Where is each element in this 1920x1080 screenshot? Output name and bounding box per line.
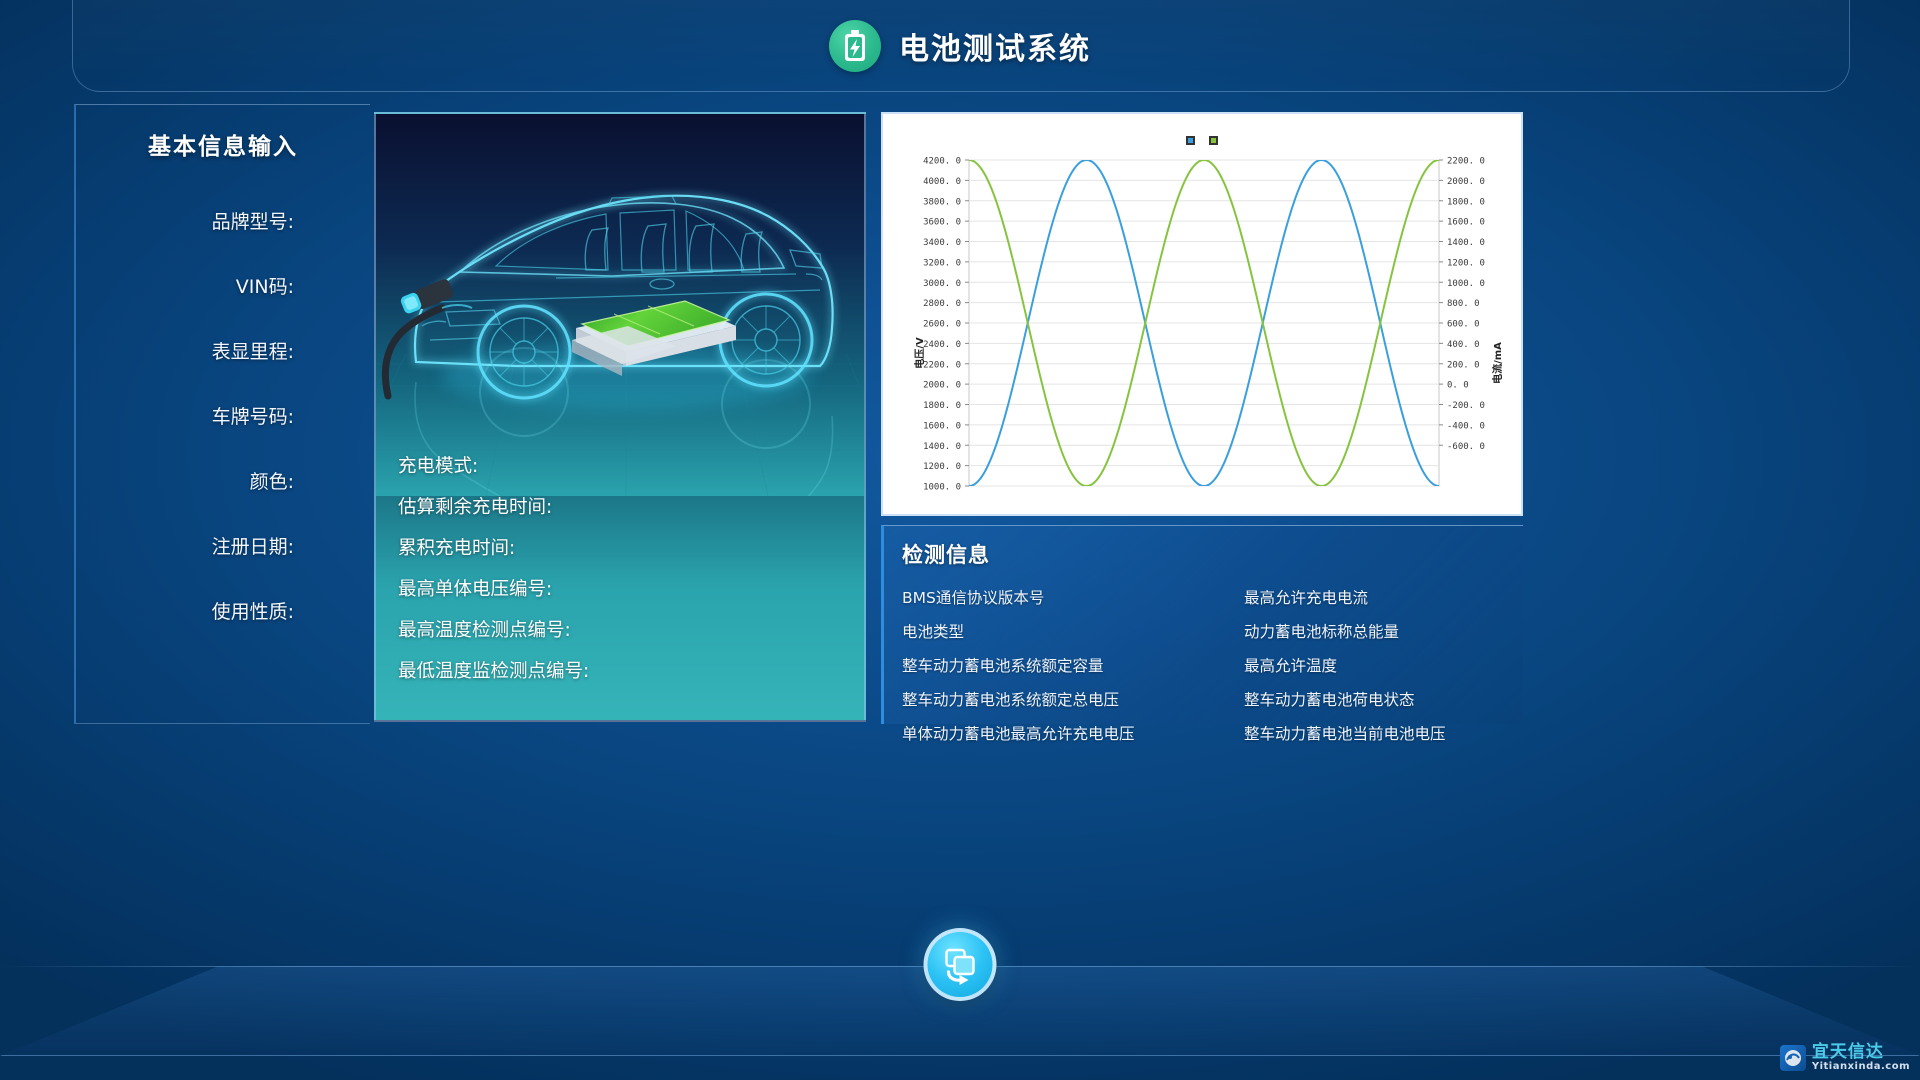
- svg-text:-200. 0: -200. 0: [1447, 401, 1485, 411]
- voltage-current-chart-panel: 4200. 04000. 03800. 03600. 03400. 03200.…: [881, 112, 1523, 516]
- svg-text:3800. 0: 3800. 0: [923, 197, 961, 207]
- svg-text:0. 0: 0. 0: [1447, 381, 1469, 391]
- watermark-chinese: 宜天信达: [1812, 1044, 1910, 1062]
- sidebar-field-vin[interactable]: VIN码:: [76, 272, 294, 337]
- svg-text:4000. 0: 4000. 0: [923, 177, 961, 187]
- svg-text:2000. 0: 2000. 0: [923, 381, 961, 391]
- svg-text:1400. 0: 1400. 0: [923, 442, 961, 452]
- svg-text:电流/mA: 电流/mA: [1491, 342, 1504, 384]
- basic-info-sidebar: 基本信息输入 品牌型号: VIN码: 表显里程: 车牌号码: 颜色: 注册日期:…: [74, 104, 370, 724]
- svg-text:1600. 0: 1600. 0: [923, 421, 961, 431]
- field-label: VIN码:: [236, 272, 294, 299]
- detection-info-title: 检测信息: [902, 539, 1523, 569]
- field-label: 品牌型号:: [212, 207, 294, 234]
- field-label: 充电模式:: [398, 452, 478, 478]
- svg-text:400. 0: 400. 0: [1447, 340, 1480, 350]
- svg-text:1600. 0: 1600. 0: [1447, 218, 1485, 228]
- info-item-rated-total-voltage[interactable]: 整车动力蓄电池系统额定总电压: [902, 688, 1244, 710]
- charging-field-list: 充电模式: 估算剩余充电时间: 累积充电时间: 最高单体电压编号: 最高温度检测…: [398, 444, 854, 690]
- info-item-current-battery-voltage[interactable]: 整车动力蓄电池当前电池电压: [1244, 722, 1523, 744]
- info-item-battery-type[interactable]: 电池类型: [902, 620, 1244, 642]
- watermark: 宜天信达 Yitianxinda.com: [1780, 1044, 1910, 1072]
- info-item-state-of-charge[interactable]: 整车动力蓄电池荷电状态: [1244, 688, 1523, 710]
- info-item-nominal-total-energy[interactable]: 动力蓄电池标称总能量: [1244, 620, 1523, 642]
- svg-text:1800. 0: 1800. 0: [923, 401, 961, 411]
- svg-text:1800. 0: 1800. 0: [1447, 197, 1485, 207]
- svg-text:4200. 0: 4200. 0: [923, 157, 961, 167]
- field-label: 表显里程:: [212, 337, 294, 364]
- svg-text:1000. 0: 1000. 0: [1447, 279, 1485, 289]
- field-label: 注册日期:: [212, 532, 294, 559]
- watermark-english: Yitianxinda.com: [1812, 1062, 1910, 1073]
- watermark-text: 宜天信达 Yitianxinda.com: [1812, 1044, 1910, 1072]
- refresh-copy-icon: [940, 945, 980, 985]
- watermark-logo-icon: [1780, 1045, 1806, 1071]
- vehicle-charging-panel: 充电模式: 估算剩余充电时间: 累积充电时间: 最高单体电压编号: 最高温度检测…: [374, 112, 866, 722]
- center-field-remaining-charge-time[interactable]: 估算剩余充电时间:: [398, 485, 854, 526]
- svg-text:200. 0: 200. 0: [1447, 360, 1480, 370]
- electric-vehicle-xray-icon: [376, 114, 864, 496]
- center-field-max-cell-voltage-id[interactable]: 最高单体电压编号:: [398, 567, 854, 608]
- field-label: 最高单体电压编号:: [398, 575, 552, 601]
- center-field-max-temp-probe-id[interactable]: 最高温度检测点编号:: [398, 608, 854, 649]
- svg-text:2400. 0: 2400. 0: [923, 340, 961, 350]
- field-label: 累积充电时间:: [398, 534, 515, 560]
- field-label: 车牌号码:: [212, 402, 294, 429]
- svg-text:2000. 0: 2000. 0: [1447, 177, 1485, 187]
- svg-text:-600. 0: -600. 0: [1447, 442, 1485, 452]
- field-label: 估算剩余充电时间:: [398, 493, 552, 519]
- svg-text:1200. 0: 1200. 0: [1447, 258, 1485, 268]
- svg-text:1200. 0: 1200. 0: [923, 462, 961, 472]
- svg-text:3200. 0: 3200. 0: [923, 258, 961, 268]
- detection-info-grid: BMS通信协议版本号 最高允许充电电流 电池类型 动力蓄电池标称总能量 整车动力…: [902, 586, 1523, 744]
- app-header: 电池测试系统: [0, 0, 1920, 92]
- svg-text:3000. 0: 3000. 0: [923, 279, 961, 289]
- svg-text:1000. 0: 1000. 0: [923, 483, 961, 493]
- info-item-rated-capacity[interactable]: 整车动力蓄电池系统额定容量: [902, 654, 1244, 676]
- chart-plot-area: 4200. 04000. 03800. 03600. 03400. 03200.…: [883, 114, 1521, 514]
- sidebar-field-color[interactable]: 颜色:: [76, 467, 294, 532]
- field-label: 最高温度检测点编号:: [398, 616, 571, 642]
- svg-text:2200. 0: 2200. 0: [1447, 157, 1485, 167]
- svg-text:1400. 0: 1400. 0: [1447, 238, 1485, 248]
- detection-info-panel: 检测信息 BMS通信协议版本号 最高允许充电电流 电池类型 动力蓄电池标称总能量…: [881, 525, 1523, 724]
- svg-text:2200. 0: 2200. 0: [923, 360, 961, 370]
- sidebar-field-plate-number[interactable]: 车牌号码:: [76, 402, 294, 467]
- sidebar-title: 基本信息输入: [76, 127, 370, 161]
- sidebar-field-usage-type[interactable]: 使用性质:: [76, 597, 294, 662]
- sidebar-field-register-date[interactable]: 注册日期:: [76, 532, 294, 597]
- page-title: 电池测试系统: [899, 24, 1091, 68]
- svg-text:600. 0: 600. 0: [1447, 320, 1480, 330]
- info-item-max-cell-charge-voltage[interactable]: 单体动力蓄电池最高允许充电电压: [902, 722, 1244, 744]
- info-item-max-allowed-charge-current[interactable]: 最高允许充电电流: [1244, 586, 1523, 608]
- center-field-charge-mode[interactable]: 充电模式:: [398, 444, 854, 485]
- svg-text:电压/V: 电压/V: [913, 337, 926, 369]
- info-item-max-allowed-temperature[interactable]: 最高允许温度: [1244, 654, 1523, 676]
- sidebar-field-mileage[interactable]: 表显里程:: [76, 337, 294, 402]
- svg-text:2600. 0: 2600. 0: [923, 320, 961, 330]
- sidebar-field-list: 品牌型号: VIN码: 表显里程: 车牌号码: 颜色: 注册日期: 使用性质:: [76, 207, 370, 662]
- svg-text:3600. 0: 3600. 0: [923, 218, 961, 228]
- svg-text:2800. 0: 2800. 0: [923, 299, 961, 309]
- sidebar-field-brand-model[interactable]: 品牌型号:: [76, 207, 294, 272]
- info-item-bms-protocol-version[interactable]: BMS通信协议版本号: [902, 586, 1244, 608]
- svg-text:800. 0: 800. 0: [1447, 299, 1480, 309]
- svg-text:-400. 0: -400. 0: [1447, 421, 1485, 431]
- svg-text:3400. 0: 3400. 0: [923, 238, 961, 248]
- refresh-copy-button[interactable]: [924, 928, 997, 1001]
- center-field-accumulated-charge-time[interactable]: 累积充电时间:: [398, 526, 854, 567]
- field-label: 使用性质:: [212, 597, 294, 624]
- battery-icon: [829, 20, 881, 72]
- field-label: 最低温度监检测点编号:: [398, 657, 589, 683]
- center-field-min-temp-probe-id[interactable]: 最低温度监检测点编号:: [398, 649, 854, 690]
- field-label: 颜色:: [250, 467, 294, 494]
